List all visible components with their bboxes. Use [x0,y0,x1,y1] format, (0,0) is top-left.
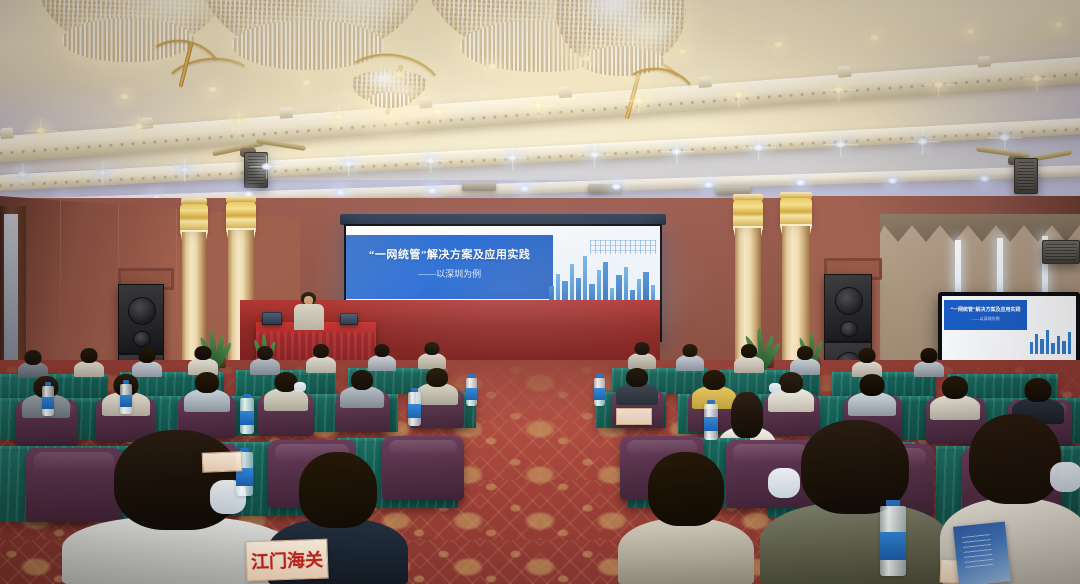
wall-speaker-top-right [1042,240,1080,264]
tv-slide-skyline [1028,328,1074,354]
projector-center [462,182,496,191]
presenter [292,292,326,330]
attendee [418,342,446,368]
water-bottle [120,384,132,414]
attendee [188,346,218,374]
attendee [616,368,658,404]
slide-subtitle: ——以深圳为例 [346,267,553,280]
attendee [74,348,104,376]
attendee [734,344,764,372]
attendee [930,376,980,418]
attendee [368,344,396,370]
attendee [914,348,944,376]
water-bottle [240,398,254,434]
attendee [848,374,896,414]
attendee [250,346,280,374]
attendee [184,372,230,410]
tv-slide-blue-box [944,300,1027,330]
ceiling-speaker-right [1014,158,1038,194]
attendee [790,346,820,374]
attendee [628,342,656,368]
attendee [676,344,704,370]
water-bottle [704,404,718,440]
attendee [852,348,882,376]
tv-slide: “一网统管”解决方案及应用实践 ——以深圳为例 深圳市城市交通规划设计研究中心股… [942,296,1076,368]
curtain-valance [880,214,1080,242]
name-placard-label-3 [221,457,223,466]
tv-slide-subtitle: ——以深圳为例 [944,316,1027,322]
attendee [306,344,336,372]
attendee-foreground-center [760,420,950,584]
attendee [416,368,458,404]
attendee [264,372,308,410]
slide-title: “一网统管”解决方案及应用实践 [346,246,553,262]
name-placard-small-left [202,451,243,472]
name-placard-jiangmen-customs: 江门海关 [245,539,328,582]
conference-booklet [953,521,1011,584]
name-placard-label-4 [633,413,635,421]
water-bottle [42,386,54,416]
booklet-text-lines [962,534,993,568]
laptop-right [340,313,358,325]
tv-slide-title: “一网统管”解决方案及应用实践 [944,306,1027,313]
attendee-foreground-right [618,452,754,584]
name-placard-label: 江门海关 [251,546,324,574]
conference-hall-photo: “一网统管”解决方案及应用实践 ——以深圳为例 深圳市城市交通规划设计研究中心股… [0,0,1080,584]
attendee [340,370,384,406]
water-bottle [880,506,906,576]
slide-skyline-grid [590,240,656,254]
attendee [132,348,162,376]
water-bottle [466,378,477,406]
laptop-left [262,312,282,325]
name-placard-small-right [616,408,652,425]
slide-skyline-graphic [547,232,660,308]
water-bottle [594,378,605,406]
attendee [18,350,48,376]
water-bottle [408,392,421,426]
